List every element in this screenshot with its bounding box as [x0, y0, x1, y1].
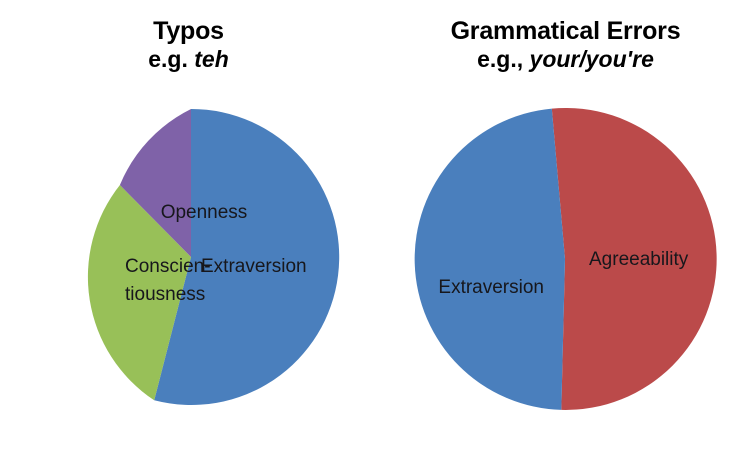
chart-title-typos-line2-emphasis: teh — [194, 46, 229, 72]
pie-label-conscientiousness-line1: Conscien- — [125, 256, 211, 277]
chart-title-grammatical-errors-line2-plain: e.g., — [477, 46, 529, 72]
chart-title-typos-line2-plain: e.g. — [148, 46, 194, 72]
pie-label-agreeability: Agreeability — [589, 249, 689, 270]
panel-typos: Typos e.g. teh Openness Conscien- tiousn… — [0, 0, 377, 461]
pie-chart-typos: Openness Conscien- tiousness Extraversio… — [42, 108, 340, 406]
panel-grammatical-errors: Grammatical Errors e.g., your/you're Agr… — [377, 0, 754, 461]
chart-title-typos-line1: Typos — [0, 18, 377, 45]
chart-title-grammatical-errors: Grammatical Errors e.g., your/you're — [377, 18, 754, 72]
pie-chart-grammatical-errors-svg: Agreeability Extraversion — [414, 108, 716, 410]
pie-label-extraversion-right: Extraversion — [438, 277, 544, 298]
figure-canvas: Typos e.g. teh Openness Conscien- tiousn… — [0, 0, 754, 461]
pie-label-openness: Openness — [161, 202, 248, 223]
pie-slice-extraversion-right[interactable] — [415, 109, 565, 410]
chart-title-grammatical-errors-line2: e.g., your/you're — [377, 47, 754, 72]
pie-label-conscientiousness-line2: tiousness — [125, 284, 205, 305]
chart-title-grammatical-errors-line1: Grammatical Errors — [377, 18, 754, 45]
pie-chart-grammatical-errors: Agreeability Extraversion — [414, 108, 716, 410]
chart-title-typos: Typos e.g. teh — [0, 18, 377, 72]
pie-chart-typos-svg: Openness Conscien- tiousness Extraversio… — [42, 108, 340, 406]
chart-title-typos-line2: e.g. teh — [0, 47, 377, 72]
chart-title-grammatical-errors-line2-emphasis: your/you're — [530, 46, 654, 72]
pie-label-extraversion: Extraversion — [201, 256, 307, 277]
